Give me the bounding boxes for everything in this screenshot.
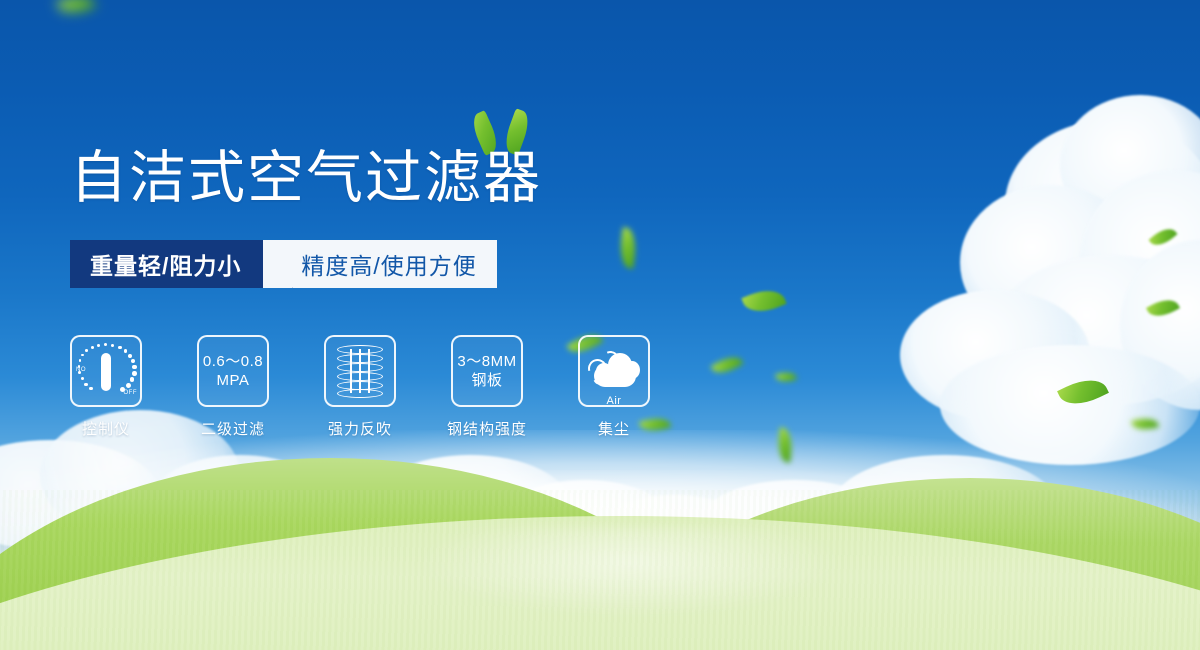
air-label: Air (586, 395, 642, 407)
feature-label: 集尘 (598, 418, 630, 439)
subtitle-slash-divider (263, 240, 293, 288)
feature-item[interactable]: 强力反吹 (324, 335, 396, 439)
leaf-icon (1149, 223, 1178, 250)
gauge-label-off: OFF (124, 390, 138, 396)
feature-icon-box[interactable]: Air (578, 335, 650, 407)
grass-texture-overlay (0, 490, 1200, 650)
feature-item[interactable]: NO OFF 控制仪 (70, 335, 142, 439)
feature-label: 二级过滤 (201, 418, 265, 439)
leaf-icon (1146, 294, 1180, 322)
gauge-icon: NO OFF (77, 342, 135, 400)
filter-coil-icon (337, 345, 383, 397)
leaf-icon (775, 370, 797, 385)
feature-icon-box[interactable]: NO OFF (70, 335, 142, 407)
steel-material: 钢板 (457, 371, 516, 390)
cloud-puff (995, 255, 1200, 405)
cloud-puff (1060, 95, 1200, 235)
cloud-puff (624, 361, 640, 379)
cloud-puff (900, 290, 1090, 420)
subtitle-left-segment: 重量轻/阻力小 (70, 240, 263, 288)
leaf-icon (1057, 371, 1109, 413)
leaf-icon (711, 351, 744, 378)
cloud-puff (1005, 120, 1200, 290)
promotional-banner: 自洁式空气过滤器 重量轻/阻力小 精度高/使用方便 (0, 0, 1200, 650)
page-title: 自洁式空气过滤器 (70, 143, 542, 213)
subtitle-right-segment: 精度高/使用方便 (293, 240, 496, 288)
leaf-icon (617, 227, 638, 269)
gauge-needle (101, 353, 111, 391)
grass-meadow (0, 430, 1200, 650)
feature-item[interactable]: 0.6～0.8 MPA 二级过滤 (197, 335, 269, 439)
leaf-icon (56, 0, 95, 18)
cloud-puff (1120, 240, 1200, 410)
cloud-puff (1080, 170, 1200, 350)
pressure-unit: MPA (203, 371, 263, 390)
feature-list: NO OFF 控制仪 0.6～0.8 MPA 二级过滤 (70, 335, 650, 439)
pressure-text-icon: 0.6～0.8 MPA (203, 352, 263, 390)
feature-item[interactable]: 3～8MM 钢板 钢结构强度 (451, 335, 523, 439)
feature-label: 钢结构强度 (447, 418, 527, 439)
leaf-icon (741, 283, 786, 318)
feature-icon-box[interactable] (324, 335, 396, 407)
air-cloud-icon: Air (586, 347, 642, 395)
feature-label: 控制仪 (82, 418, 130, 439)
steel-plate-text-icon: 3～8MM 钢板 (457, 352, 516, 390)
cloud-puff (960, 185, 1140, 340)
feature-item[interactable]: Air 集尘 (578, 335, 650, 439)
pressure-range: 0.6～0.8 (203, 352, 263, 371)
gauge-label-no: NO (76, 367, 86, 373)
steel-thickness: 3～8MM (457, 352, 516, 371)
subtitle-bar: 重量轻/阻力小 精度高/使用方便 (70, 240, 497, 288)
feature-icon-box[interactable]: 0.6～0.8 MPA (197, 335, 269, 407)
feature-label: 强力反吹 (328, 418, 392, 439)
feature-icon-box[interactable]: 3～8MM 钢板 (451, 335, 523, 407)
